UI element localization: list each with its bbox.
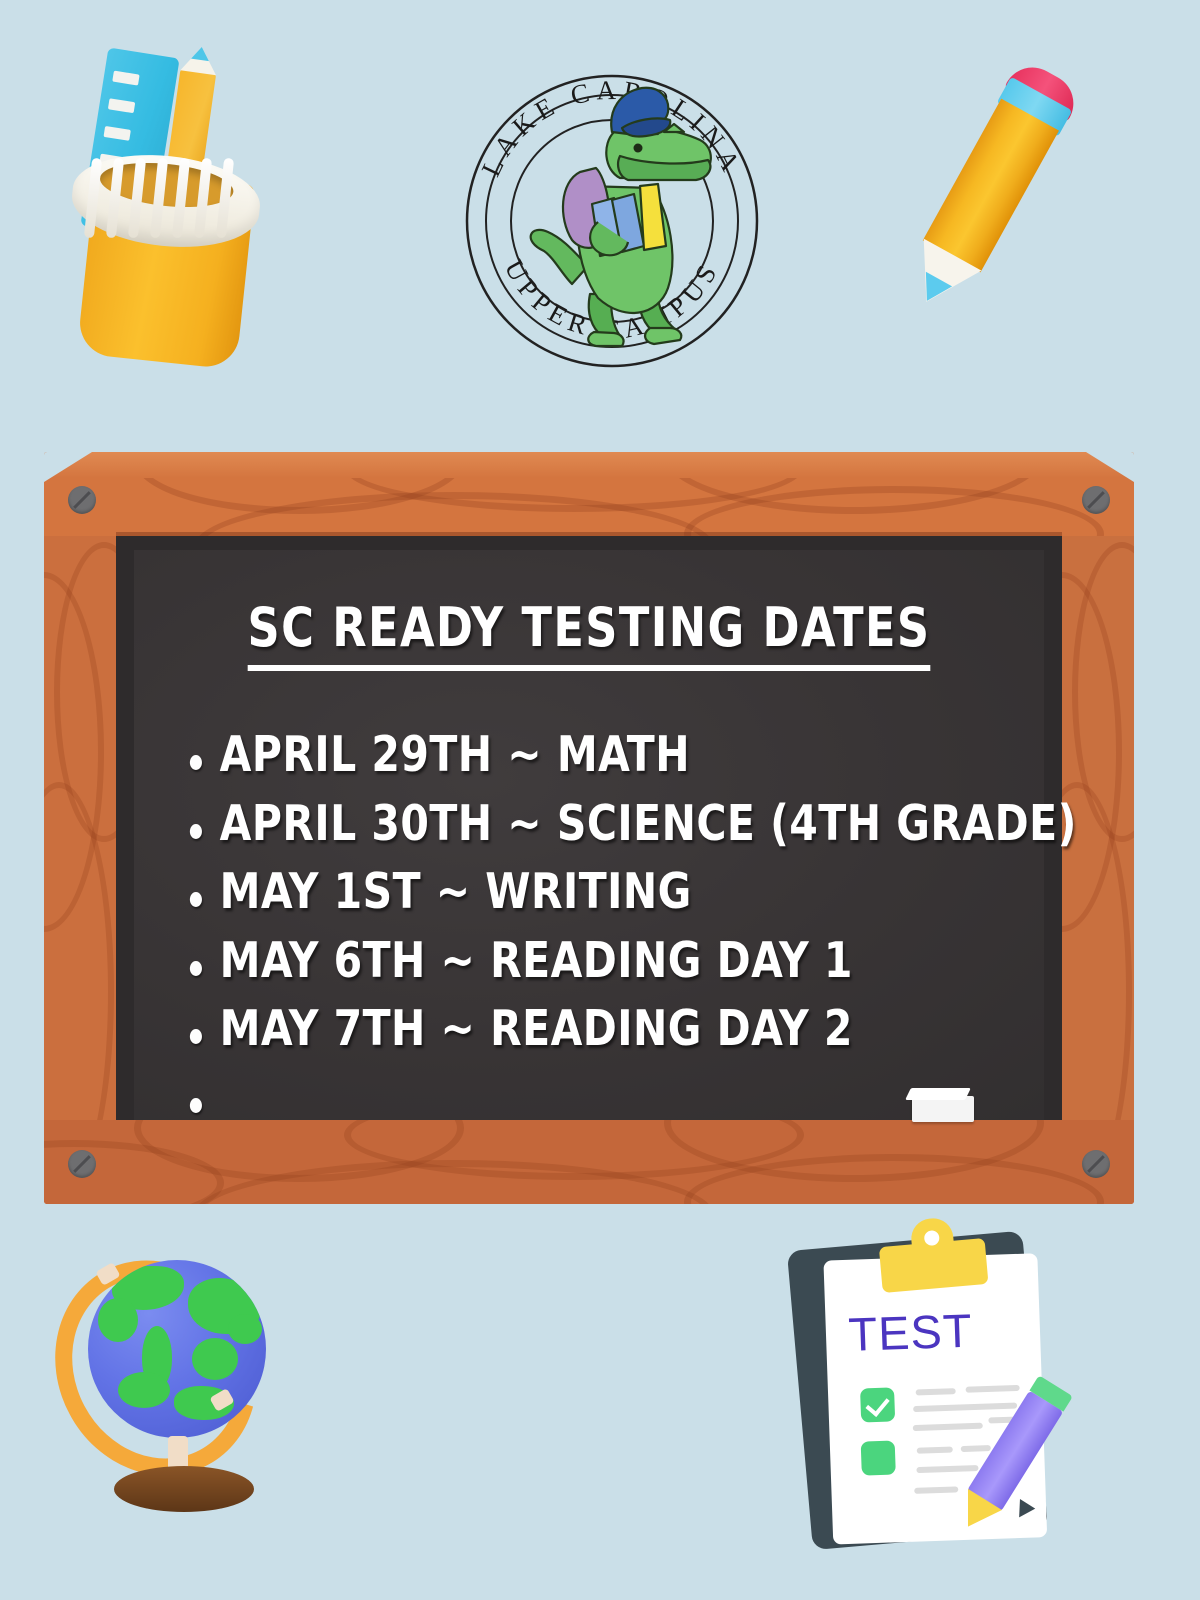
- chalkboard: SC READY TESTING DATES APRIL 29TH ~ MATH…: [44, 452, 1134, 1204]
- clipboard-paper: [823, 1253, 1047, 1544]
- list-item: MAY 6TH ~ READING DAY 1: [188, 927, 956, 996]
- globe-sphere: [88, 1260, 266, 1438]
- list-item-empty: [188, 1064, 956, 1104]
- frame-plank-bottom: [44, 1120, 1134, 1204]
- pencil-illustration: [877, 47, 1103, 324]
- checkbox-unchecked-icon: [861, 1440, 896, 1475]
- screw-icon: [68, 1150, 96, 1178]
- clipboard-clip: [879, 1238, 989, 1293]
- globe-illustration: [52, 1240, 302, 1550]
- testing-dates-list: APRIL 29TH ~ MATH APRIL 30TH ~ SCIENCE (…: [188, 721, 1014, 1104]
- list-item: MAY 1ST ~ WRITING: [188, 858, 956, 927]
- list-item: MAY 7TH ~ READING DAY 2: [188, 995, 956, 1064]
- screw-icon: [1082, 486, 1110, 514]
- pencil-body: [923, 99, 1059, 273]
- paper-line: [961, 1445, 991, 1452]
- list-item: APRIL 30TH ~ SCIENCE (4TH GRADE): [188, 790, 956, 859]
- test-clipboard-illustration: TEST: [786, 1218, 1104, 1572]
- chalkboard-frame: SC READY TESTING DATES APRIL 29TH ~ MATH…: [44, 452, 1134, 1204]
- list-item: APRIL 29TH ~ MATH: [188, 721, 956, 790]
- clipboard-test-label: TEST: [847, 1303, 973, 1362]
- page-title-text: SC READY TESTING DATES: [248, 596, 931, 671]
- checkbox-checked-icon: [860, 1387, 895, 1422]
- paper-line: [917, 1446, 953, 1453]
- chalk-eraser-icon: [912, 1096, 974, 1122]
- school-logo: LAKE CAROLINA UPPER CAMPUS: [452, 36, 772, 381]
- school-seal-icon: LAKE CAROLINA UPPER CAMPUS: [452, 36, 772, 381]
- chalkboard-surface: SC READY TESTING DATES APRIL 29TH ~ MATH…: [134, 550, 1044, 1120]
- frame-plank-top: [44, 452, 1134, 536]
- chalkboard-border: SC READY TESTING DATES APRIL 29TH ~ MATH…: [116, 536, 1062, 1120]
- page-title: SC READY TESTING DATES: [198, 596, 980, 659]
- frame-plank-left: [44, 452, 116, 1204]
- screw-icon: [1082, 1150, 1110, 1178]
- pencil-cup-illustration: [58, 28, 288, 368]
- screw-icon: [68, 486, 96, 514]
- globe-base: [114, 1466, 254, 1512]
